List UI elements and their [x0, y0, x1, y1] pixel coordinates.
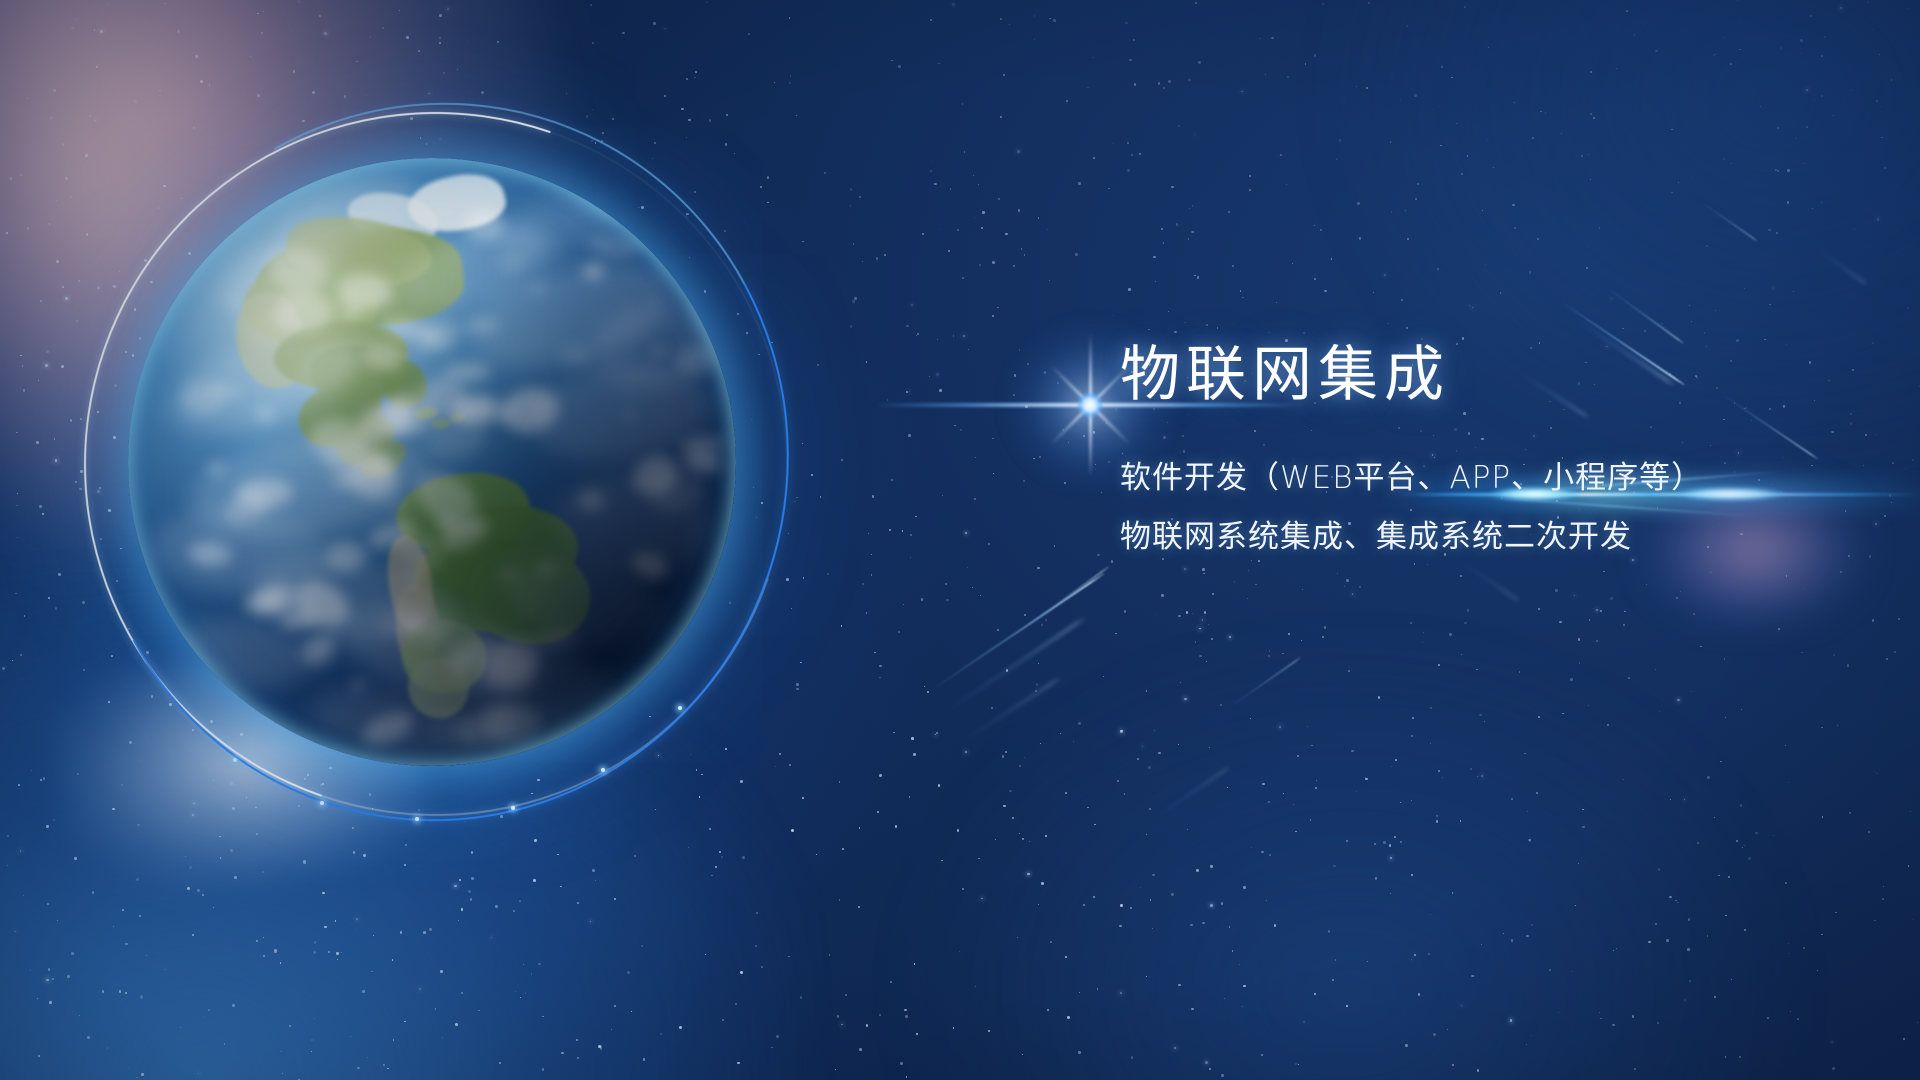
- vignette-overlay: [0, 0, 1920, 1080]
- hero-banner: 物联网集成 软件开发（WEB平台、APP、小程序等） 物联网系统集成、集成系统二…: [0, 0, 1920, 1080]
